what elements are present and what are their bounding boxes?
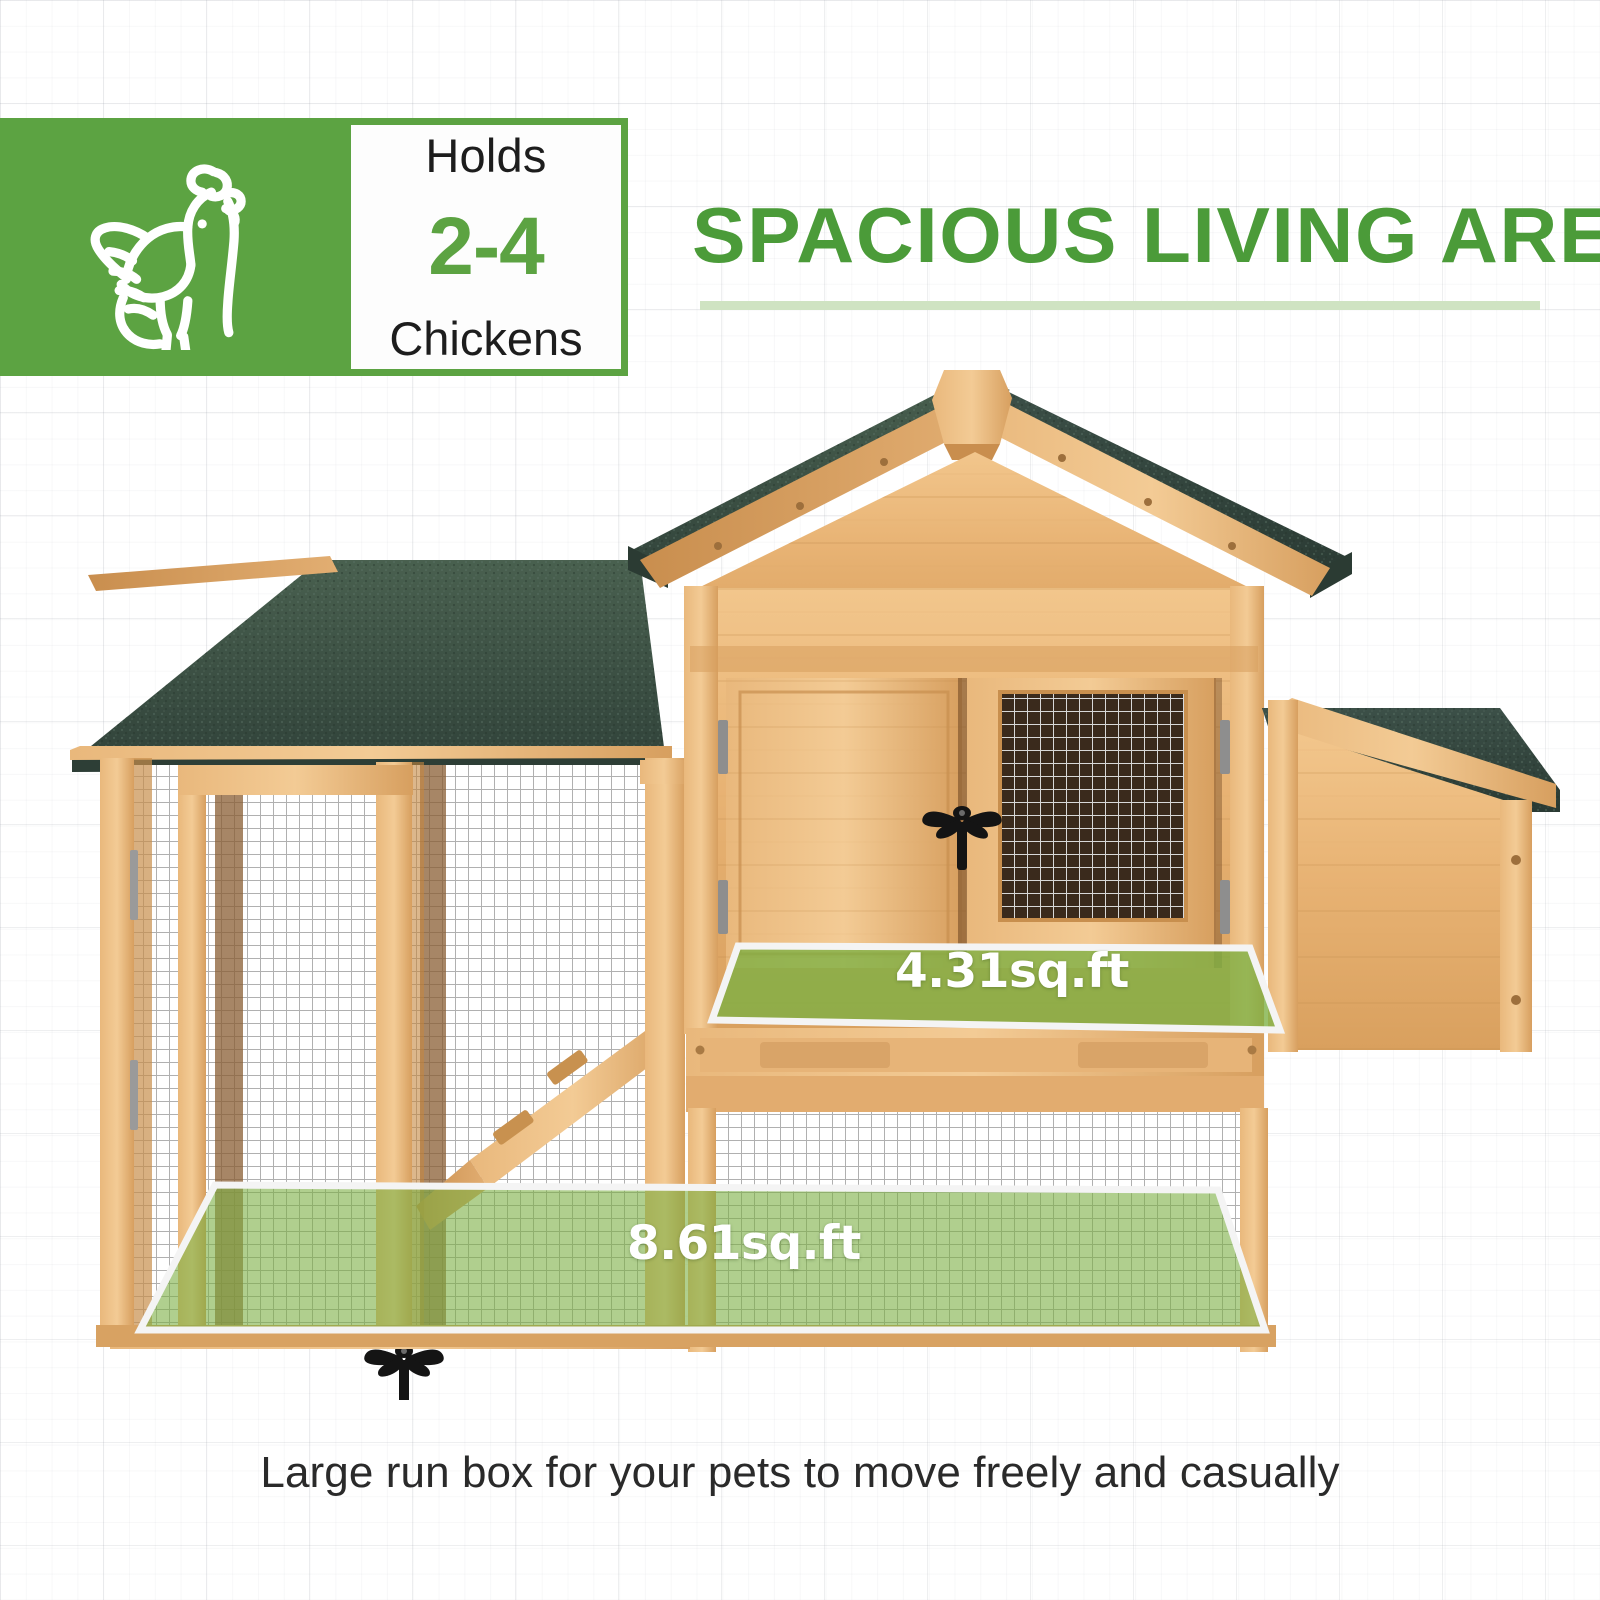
capacity-count: 2-4: [428, 208, 544, 286]
chicken-icon: [0, 118, 348, 376]
holds-capacity-banner: Holds 2-4 Chickens: [0, 118, 628, 376]
holds-label: Holds: [425, 131, 546, 180]
animal-label: Chickens: [389, 314, 582, 363]
capacity-card: Holds 2-4 Chickens: [348, 122, 624, 372]
feature-caption: Large run box for your pets to move free…: [0, 1448, 1600, 1498]
headline-block: SPACIOUS LIVING AREA: [692, 196, 1572, 310]
title-underline-rule: [700, 301, 1540, 310]
page-title: SPACIOUS LIVING AREA: [692, 196, 1598, 274]
upper-area-value: 4.31sq.ft: [895, 944, 1129, 999]
dragonfly-latch-left: [364, 1344, 444, 1400]
lower-area-value: 8.61sq.ft: [627, 1216, 861, 1271]
